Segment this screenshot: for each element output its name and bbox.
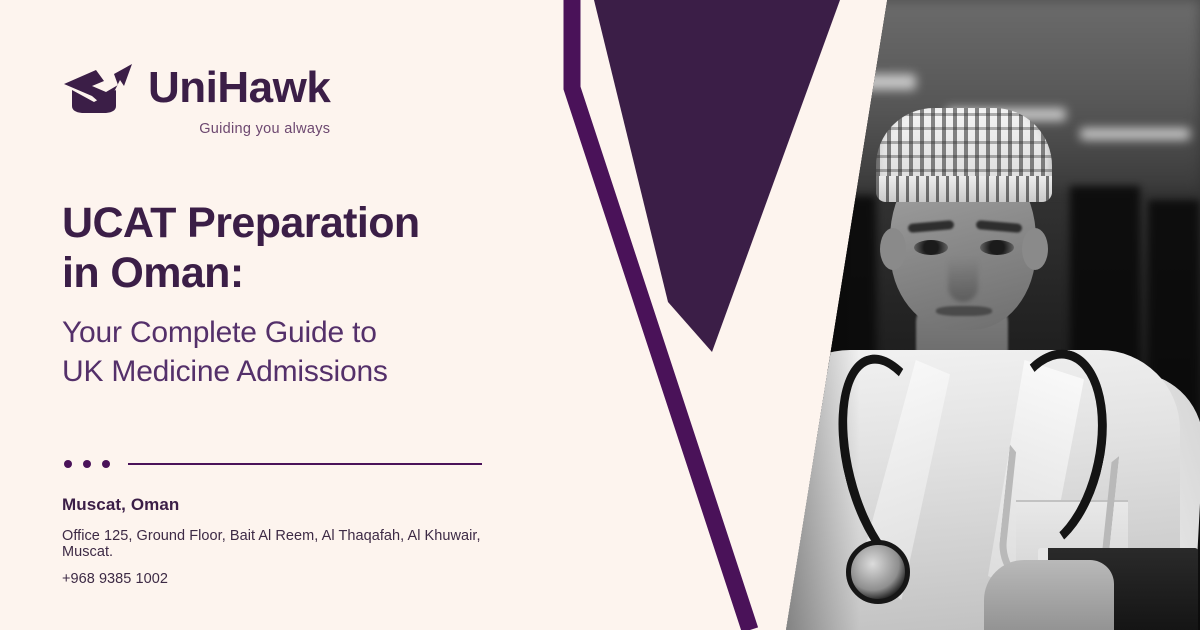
divider-dot-1 [64, 460, 72, 468]
marketing-banner: UniHawk Guiding you always UCAT Preparat… [0, 0, 1200, 630]
hero-photo [740, 0, 1200, 630]
subheadline-line-2: UK Medicine Admissions [62, 352, 512, 392]
contact-address: Office 125, Ground Floor, Bait Al Reem, … [62, 528, 522, 560]
graduation-cap-arrow-icon [62, 62, 136, 114]
hero-photo-image [740, 0, 1200, 630]
subheadline-line-1: Your Complete Guide to [62, 313, 512, 353]
divider-rule [128, 463, 482, 465]
logo-wordmark: UniHawk [148, 66, 330, 110]
divider-outline-stroke [572, 0, 750, 630]
divider-dot-3 [102, 460, 110, 468]
content-column: UniHawk Guiding you always UCAT Preparat… [62, 0, 532, 630]
photo-pillar [740, 150, 798, 480]
divider-cream-wedge [560, 0, 775, 630]
headline-line-1: UCAT Preparation [62, 198, 512, 248]
headline-line-2: in Oman: [62, 248, 512, 298]
brand-logo[interactable]: UniHawk Guiding you always [62, 62, 330, 137]
logo-row: UniHawk [62, 62, 330, 114]
contact-phone[interactable]: +968 9385 1002 [62, 571, 522, 587]
divider-purple-wedge [594, 0, 840, 352]
decorative-divider [64, 460, 482, 468]
contact-city: Muscat, Oman [62, 495, 522, 515]
divider-dot-2 [83, 460, 91, 468]
subheadline-block: Your Complete Guide to UK Medicine Admis… [62, 313, 512, 393]
logo-tagline: Guiding you always [199, 121, 330, 137]
headline-block: UCAT Preparation in Oman: Your Complete … [62, 198, 512, 392]
contact-block: Muscat, Oman Office 125, Ground Floor, B… [62, 495, 522, 587]
photo-edge-shadow [740, 0, 1200, 630]
